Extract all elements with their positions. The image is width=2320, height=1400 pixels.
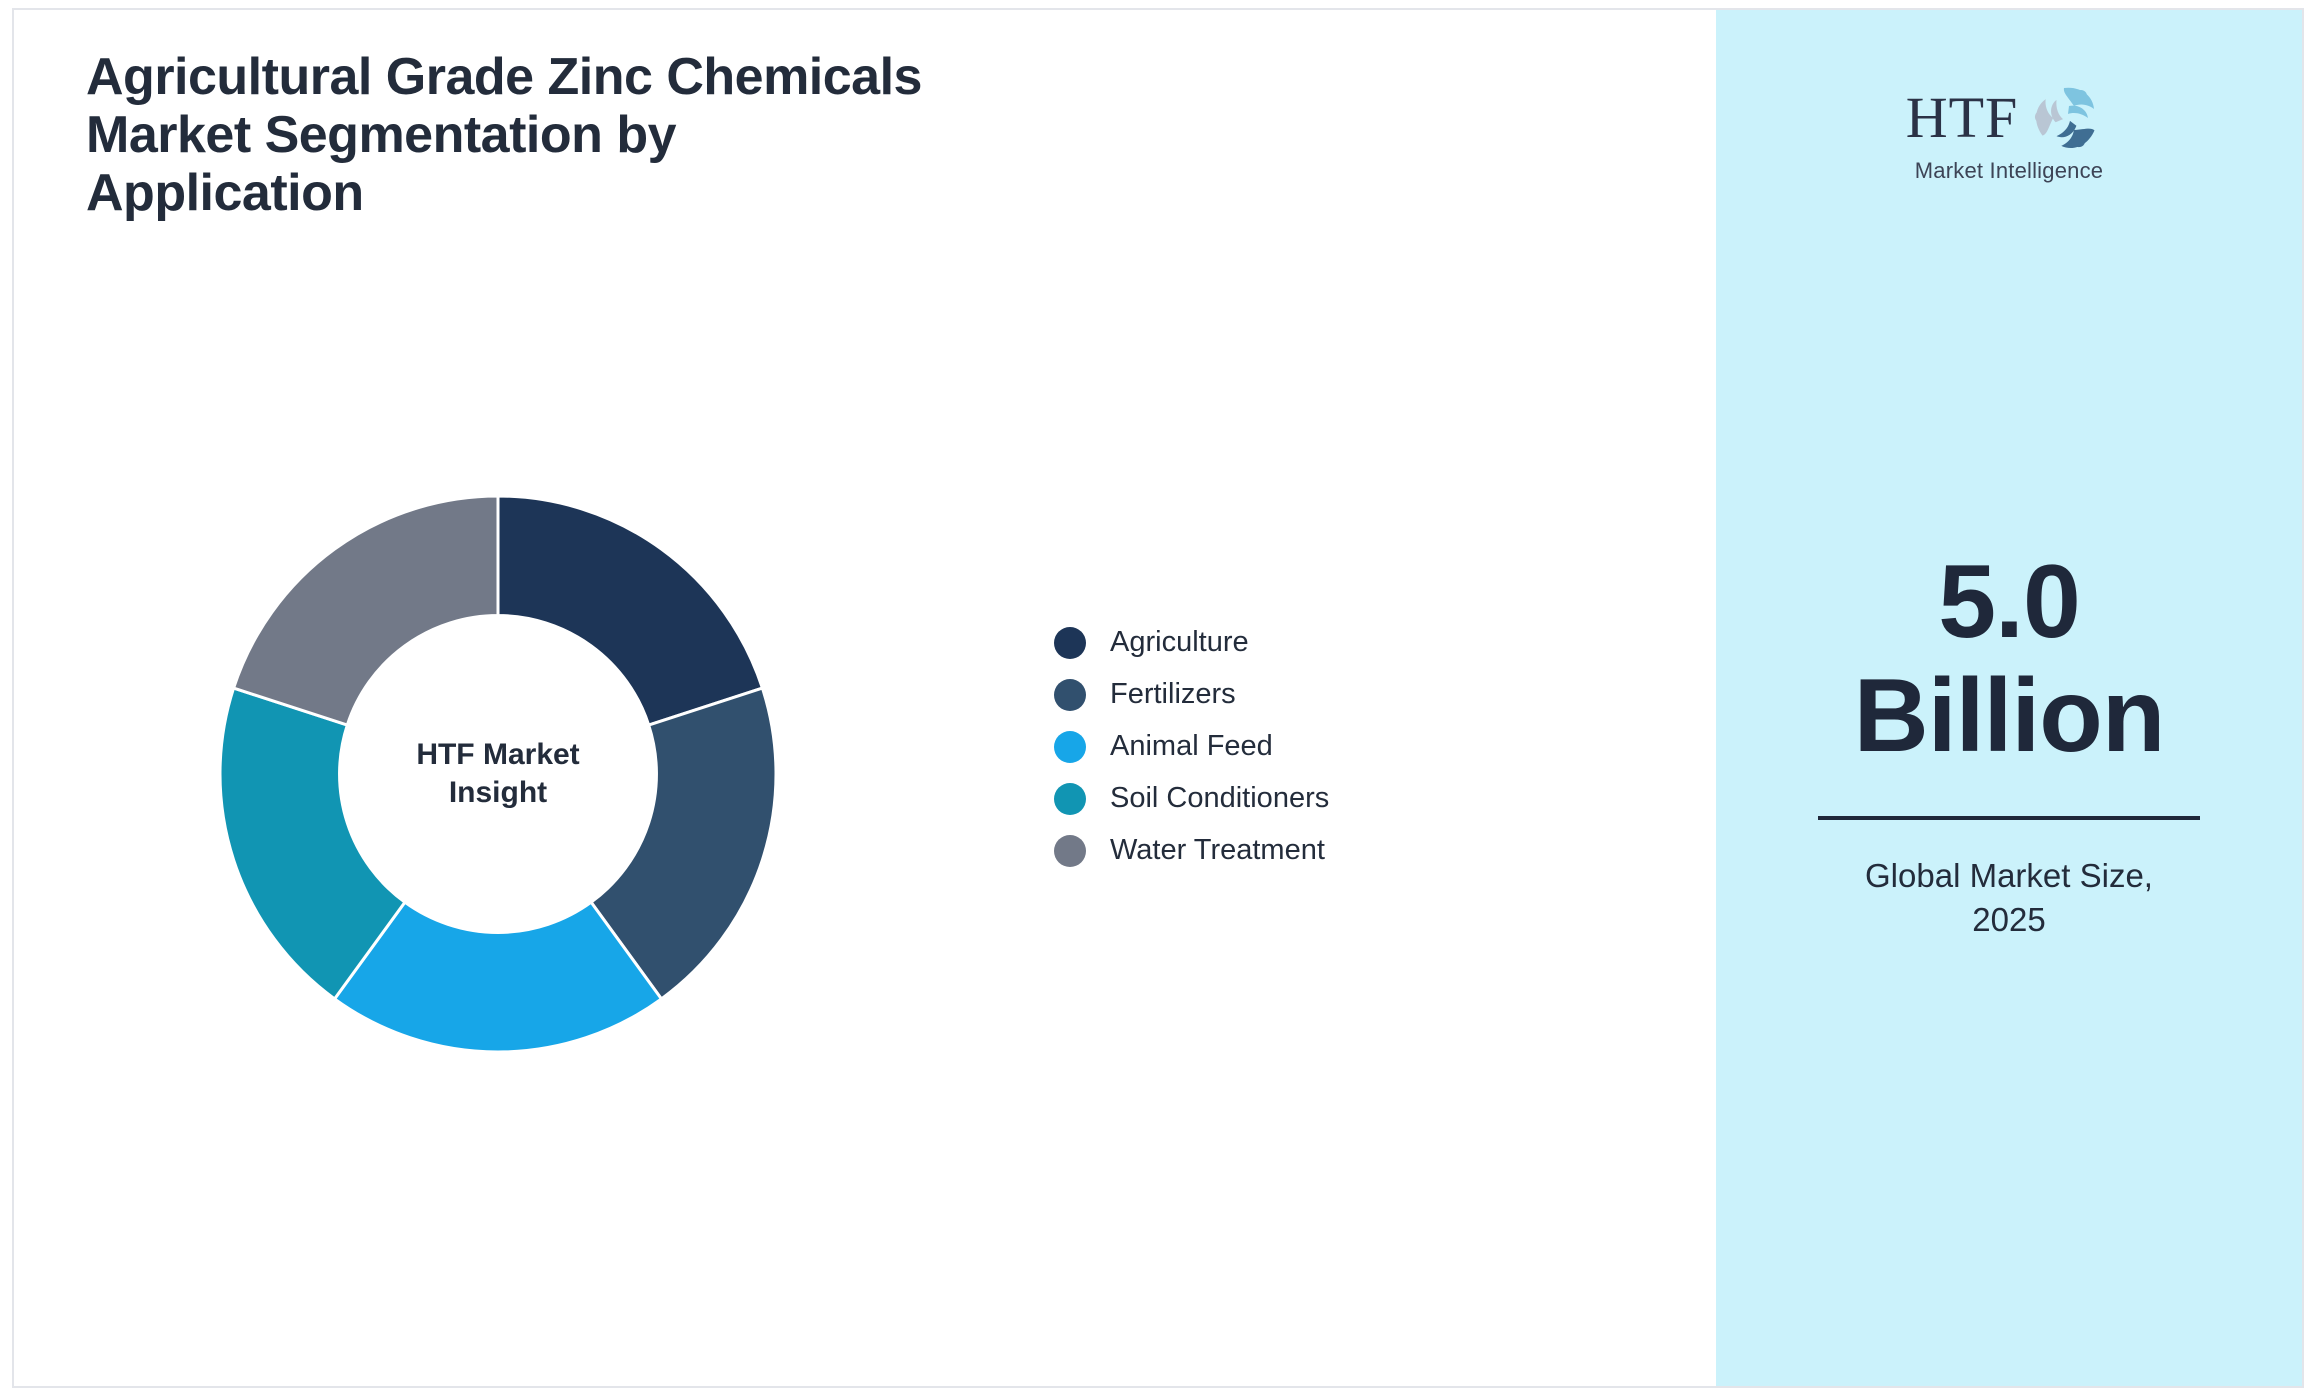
brand-tagline: Market Intelligence [1915,158,2103,184]
legend-item-agriculture[interactable]: Agriculture [1054,626,1329,659]
stat-block: 5.0 Billion Global Market Size, 2025 [1716,545,2302,943]
legend-swatch-icon [1054,731,1086,763]
stat-divider [1818,816,2200,820]
legend-item-soil-conditioners[interactable]: Soil Conditioners [1054,782,1329,815]
legend-item-fertilizers[interactable]: Fertilizers [1054,678,1329,711]
donut-slice[interactable] [234,496,498,725]
legend-swatch-icon [1054,679,1086,711]
legend-item-label: Soil Conditioners [1110,782,1329,815]
donut-chart: HTF Market Insight [208,484,788,1064]
stat-value: 5.0 Billion [1854,545,2165,774]
htf-swirl-emblem-icon [2022,80,2112,156]
brand-logo[interactable]: HTF [1716,80,2302,184]
donut-chart-svg [208,484,788,1064]
legend-swatch-icon [1054,627,1086,659]
legend-swatch-icon [1054,835,1086,867]
chart-pane: Agricultural Grade Zinc Chemicals Market… [14,10,1716,1386]
legend-item-water-treatment[interactable]: Water Treatment [1054,834,1329,867]
legend-swatch-icon [1054,783,1086,815]
legend-item-label: Agriculture [1110,626,1249,659]
page-title: Agricultural Grade Zinc Chemicals Market… [86,48,1086,223]
legend-item-label: Water Treatment [1110,834,1325,867]
brand-wordmark: HTF [1906,89,2019,147]
brand-logo-row: HTF [1906,80,2113,156]
legend-item-label: Fertilizers [1110,678,1236,711]
legend-item-animal-feed[interactable]: Animal Feed [1054,730,1329,763]
infographic-card: Agricultural Grade Zinc Chemicals Market… [12,8,2304,1388]
stat-pane: HTF [1716,10,2302,1386]
stat-caption: Global Market Size, 2025 [1865,854,2153,943]
chart-legend: Agriculture Fertilizers Animal Feed Soil… [1054,626,1329,867]
donut-slice-group [220,496,776,1052]
legend-item-label: Animal Feed [1110,730,1273,763]
donut-slice[interactable] [498,496,762,725]
